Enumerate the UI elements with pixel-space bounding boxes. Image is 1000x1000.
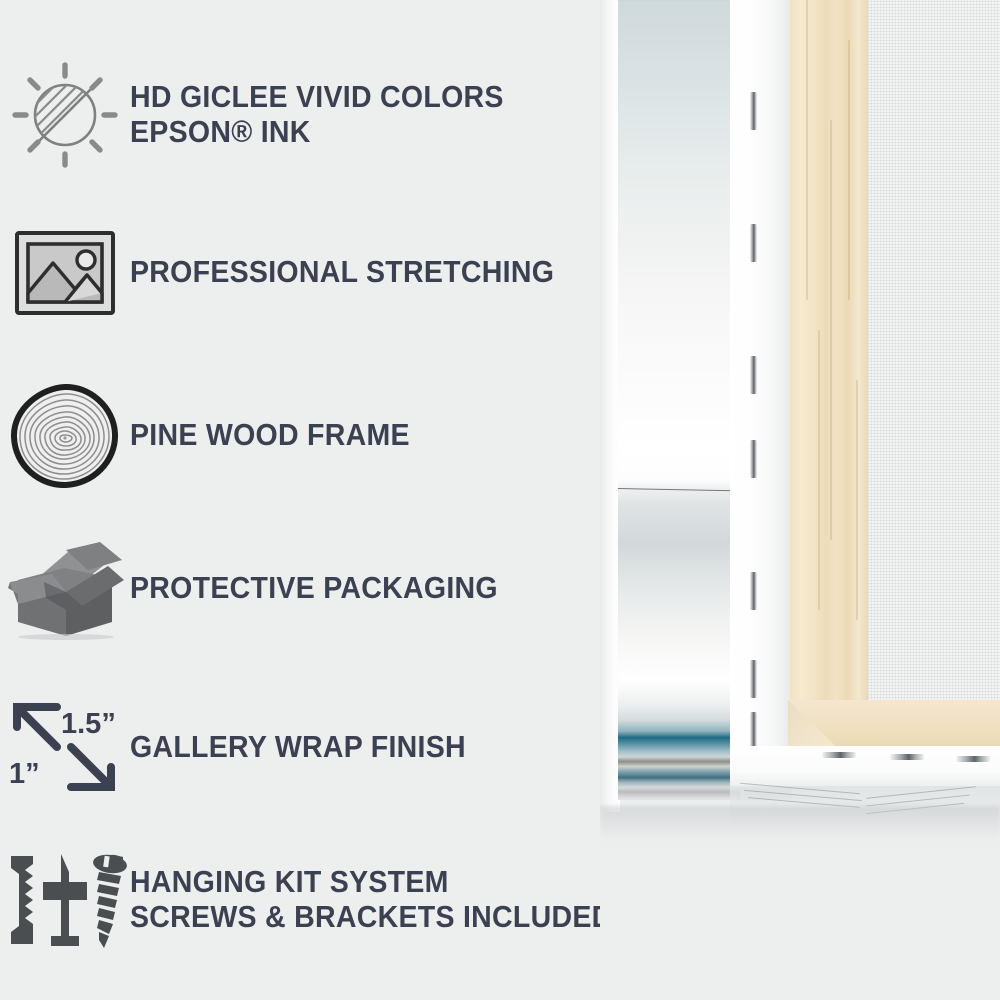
wood-rings-icon	[0, 381, 130, 491]
staple	[750, 440, 757, 478]
staple	[750, 92, 757, 130]
feature-row-packaging: PROTECTIVE PACKAGING	[0, 528, 620, 648]
infographic-canvas: HD GICLEE VIVID COLORS EPSON® INK PROFES…	[0, 0, 1000, 1000]
feature-label-hanging-kit-line2: SCREWS & BRACKETS INCLUDED	[130, 900, 613, 935]
hardware-screws-icon	[0, 845, 130, 955]
photo-left-edge	[600, 0, 620, 812]
feature-row-gallery-wrap: 1.5” 1” GALLERY WRAP FINISH	[0, 692, 620, 802]
feature-label-hanging-kit-line1: HANGING KIT SYSTEM	[130, 864, 449, 899]
feature-row-pine-wood: PINE WOOD FRAME	[0, 378, 620, 493]
feature-label-hanging-kit: HANGING KIT SYSTEM SCREWS & BRACKETS INC…	[130, 865, 613, 934]
feature-label-giclee-line2: EPSON® INK	[130, 115, 504, 150]
staple	[750, 224, 757, 262]
staple	[956, 756, 990, 762]
feature-row-giclee: HD GICLEE VIVID COLORS EPSON® INK	[0, 50, 620, 180]
staple	[822, 752, 856, 758]
feature-label-pine-wood: PINE WOOD FRAME	[130, 418, 410, 453]
feature-row-hanging-kit: HANGING KIT SYSTEM SCREWS & BRACKETS INC…	[0, 840, 620, 960]
staple	[890, 754, 924, 760]
open-box-icon	[0, 533, 130, 643]
canvas-drop-shadow	[600, 806, 1000, 840]
feature-label-gallery-wrap: GALLERY WRAP FINISH	[130, 730, 466, 765]
wrap-depth-bottom-label: 1”	[9, 758, 40, 790]
white-canvas-wrap	[730, 0, 790, 770]
staple	[750, 572, 757, 610]
diagonal-measure-arrow-icon: 1.5” 1”	[0, 692, 130, 802]
corner-canvas-wrap	[730, 746, 1000, 788]
wrap-depth-top-label: 1.5”	[61, 708, 116, 740]
sun-brightness-icon	[0, 60, 130, 170]
feature-label-stretching: PROFESSIONAL STRETCHING	[130, 255, 554, 290]
printed-artwork-edge	[618, 0, 740, 800]
framed-picture-icon	[0, 218, 130, 328]
staple	[750, 660, 757, 698]
feature-label-giclee: HD GICLEE VIVID COLORS EPSON® INK	[130, 80, 504, 149]
feature-label-giclee-line1: HD GICLEE VIVID COLORS	[130, 79, 504, 114]
feature-label-packaging: PROTECTIVE PACKAGING	[130, 571, 498, 606]
feature-row-stretching: PROFESSIONAL STRETCHING	[0, 215, 620, 330]
canvas-edge-detail-photo	[600, 0, 1000, 1000]
pine-stretcher-bar	[790, 0, 868, 762]
staple	[750, 356, 757, 394]
canvas-back-fabric	[868, 0, 1000, 758]
